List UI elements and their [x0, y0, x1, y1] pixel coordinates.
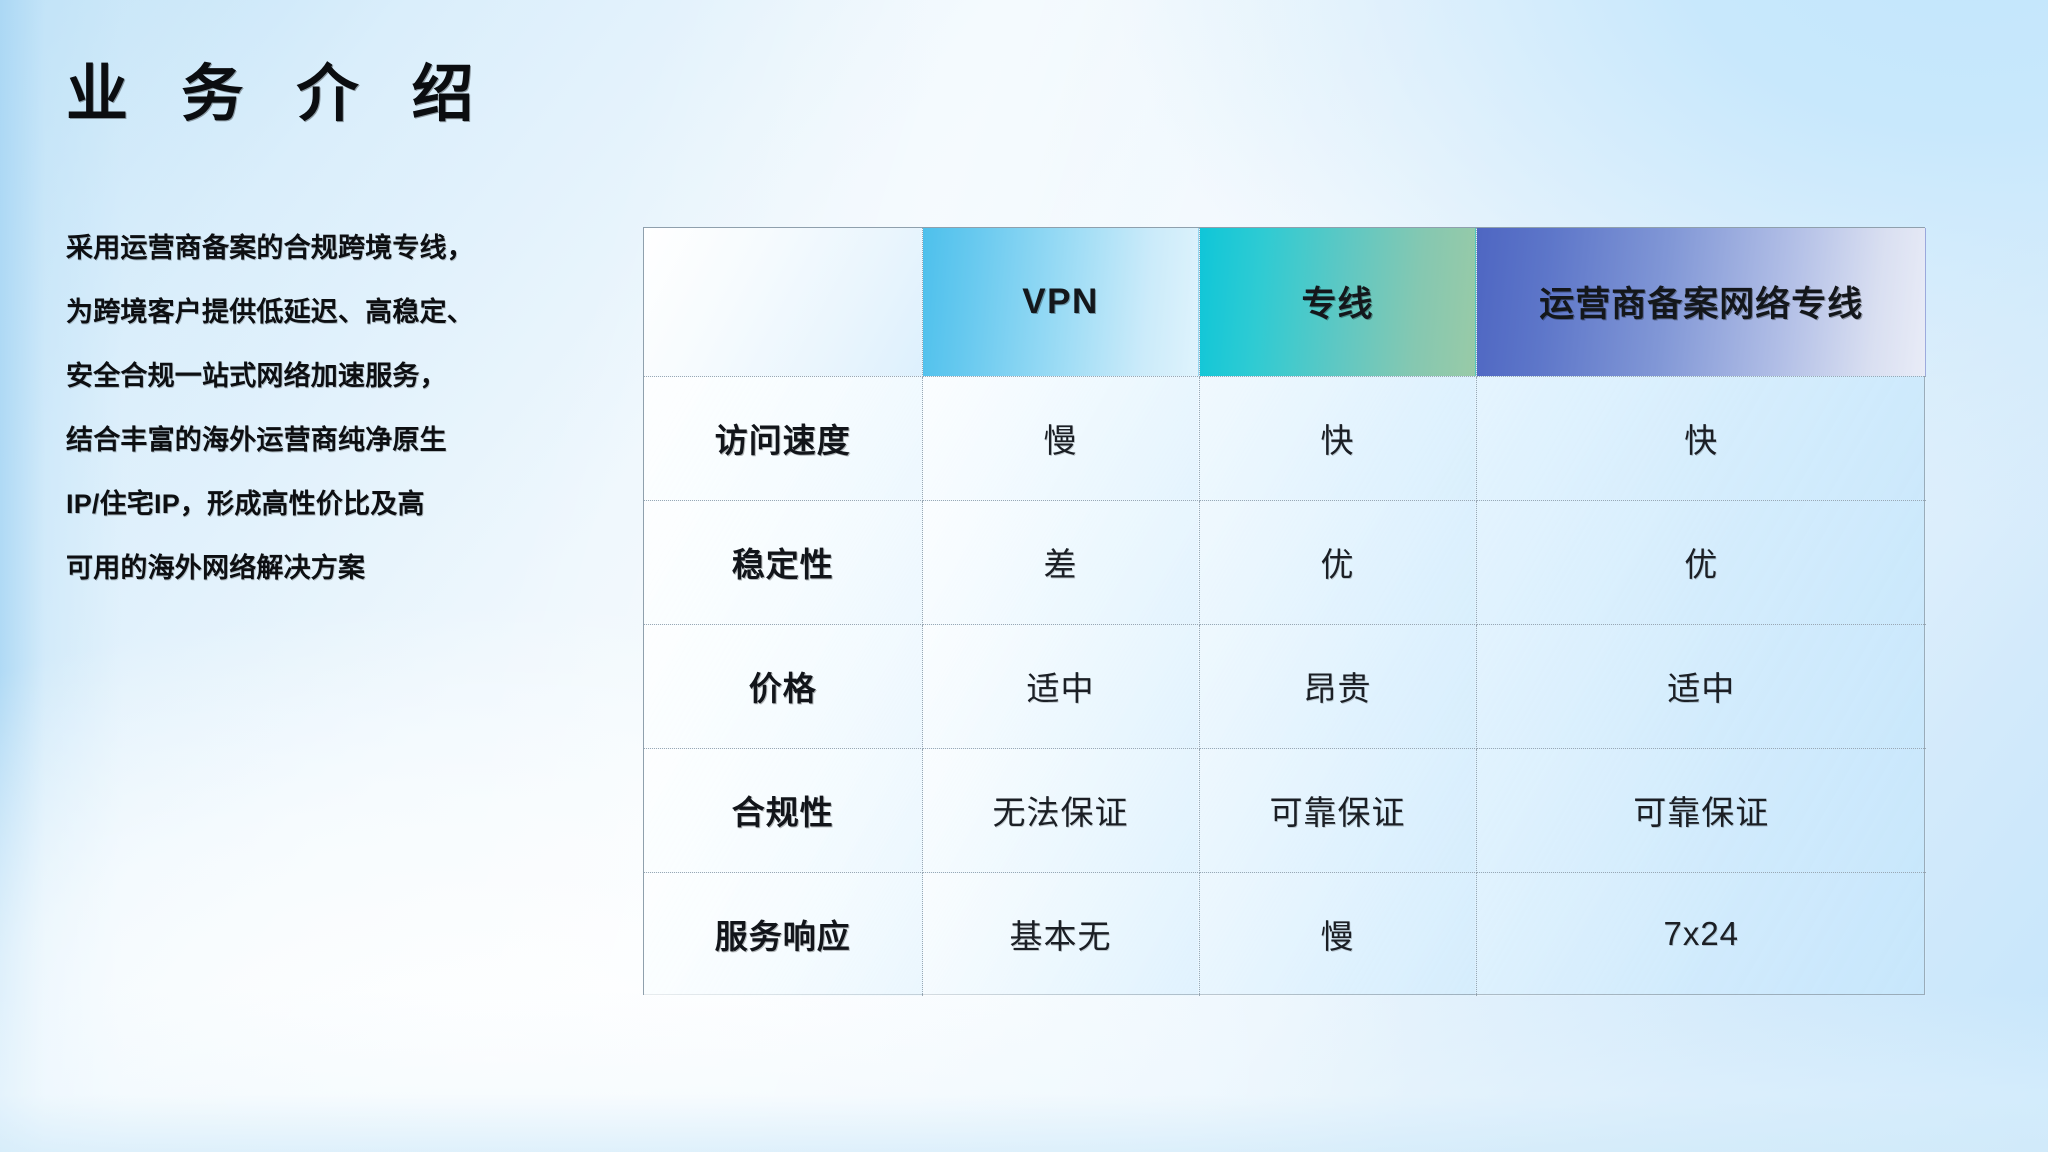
value-service-response-carrier-filed-line: 7x24	[1663, 915, 1739, 952]
value-cell-dedicated-line: 快	[1199, 376, 1476, 500]
row-label-access-speed: 访问速度	[715, 422, 851, 459]
description-line-2: 为跨境客户提供低延迟、高稳定、	[66, 299, 626, 326]
value-stability-vpn: 差	[1044, 546, 1078, 583]
value-cell-carrier-filed-line: 适中	[1476, 624, 1926, 748]
table-body: 访问速度 慢 快 快 稳定性 差 优 优 价格 适中 昂贵 适中	[644, 376, 1926, 996]
header-cell-blank	[644, 228, 922, 376]
value-cell-dedicated-line: 慢	[1199, 872, 1476, 996]
value-cell-vpn: 无法保证	[922, 748, 1199, 872]
value-price-vpn: 适中	[1027, 670, 1095, 707]
value-cell-dedicated-line: 昂贵	[1199, 624, 1476, 748]
row-label-service-response: 服务响应	[715, 918, 851, 955]
value-cell-vpn: 慢	[922, 376, 1199, 500]
description-line-4: 结合丰富的海外运营商纯净原生	[66, 427, 626, 454]
value-price-dedicated-line: 昂贵	[1304, 670, 1372, 707]
row-label-stability: 稳定性	[732, 546, 834, 583]
slide-canvas: 业 务 介 绍 采用运营商备案的合规跨境专线， 为跨境客户提供低延迟、高稳定、 …	[0, 0, 2048, 1152]
value-service-response-dedicated-line: 慢	[1321, 918, 1355, 955]
table-row: 合规性 无法保证 可靠保证 可靠保证	[644, 748, 1926, 872]
value-cell-dedicated-line: 可靠保证	[1199, 748, 1476, 872]
value-compliance-carrier-filed-line: 可靠保证	[1633, 794, 1769, 831]
row-label-compliance: 合规性	[732, 794, 834, 831]
table-header: VPN 专线 运营商备案网络专线	[644, 228, 1926, 376]
value-cell-vpn: 基本无	[922, 872, 1199, 996]
table-row: 服务响应 基本无 慢 7x24	[644, 872, 1926, 996]
description-line-3: 安全合规一站式网络加速服务，	[66, 363, 626, 390]
description-line-5: IP/住宅IP，形成高性价比及高	[66, 491, 626, 518]
value-cell-carrier-filed-line: 7x24	[1476, 872, 1926, 996]
page-title: 业 务 介 绍	[66, 62, 492, 127]
value-stability-dedicated-line: 优	[1321, 546, 1355, 583]
value-access-speed-dedicated-line: 快	[1321, 422, 1355, 459]
table-row: 价格 适中 昂贵 适中	[644, 624, 1926, 748]
value-price-carrier-filed-line: 适中	[1667, 670, 1735, 707]
description-line-1: 采用运营商备案的合规跨境专线，	[66, 235, 626, 262]
comparison-table-container: VPN 专线 运营商备案网络专线 访问速度 慢 快 快	[643, 227, 1925, 995]
header-cell-dedicated-line: 专线	[1199, 228, 1476, 376]
row-label-price: 价格	[749, 670, 817, 707]
value-cell-vpn: 差	[922, 500, 1199, 624]
description-line-6: 可用的海外网络解决方案	[66, 555, 626, 582]
value-cell-carrier-filed-line: 可靠保证	[1476, 748, 1926, 872]
header-label-dedicated-line: 专线	[1301, 285, 1373, 324]
value-stability-carrier-filed-line: 优	[1684, 546, 1718, 583]
table-header-row: VPN 专线 运营商备案网络专线	[644, 228, 1926, 376]
header-cell-vpn: VPN	[922, 228, 1199, 376]
row-label-cell: 稳定性	[644, 500, 922, 624]
row-label-cell: 访问速度	[644, 376, 922, 500]
row-label-cell: 合规性	[644, 748, 922, 872]
value-compliance-dedicated-line: 可靠保证	[1270, 794, 1406, 831]
value-service-response-vpn: 基本无	[1010, 918, 1112, 955]
value-compliance-vpn: 无法保证	[993, 794, 1129, 831]
value-cell-carrier-filed-line: 优	[1476, 500, 1926, 624]
value-cell-carrier-filed-line: 快	[1476, 376, 1926, 500]
row-label-cell: 价格	[644, 624, 922, 748]
header-cell-carrier-filed-line: 运营商备案网络专线	[1476, 228, 1926, 376]
table-row: 访问速度 慢 快 快	[644, 376, 1926, 500]
value-cell-vpn: 适中	[922, 624, 1199, 748]
header-label-vpn: VPN	[1022, 282, 1098, 321]
comparison-table: VPN 专线 运营商备案网络专线 访问速度 慢 快 快	[644, 228, 1926, 996]
value-access-speed-vpn: 慢	[1044, 422, 1078, 459]
description-paragraph: 采用运营商备案的合规跨境专线， 为跨境客户提供低延迟、高稳定、 安全合规一站式网…	[66, 235, 626, 582]
value-cell-dedicated-line: 优	[1199, 500, 1476, 624]
row-label-cell: 服务响应	[644, 872, 922, 996]
value-access-speed-carrier-filed-line: 快	[1684, 422, 1718, 459]
header-label-carrier-filed-line: 运营商备案网络专线	[1539, 285, 1863, 324]
table-row: 稳定性 差 优 优	[644, 500, 1926, 624]
